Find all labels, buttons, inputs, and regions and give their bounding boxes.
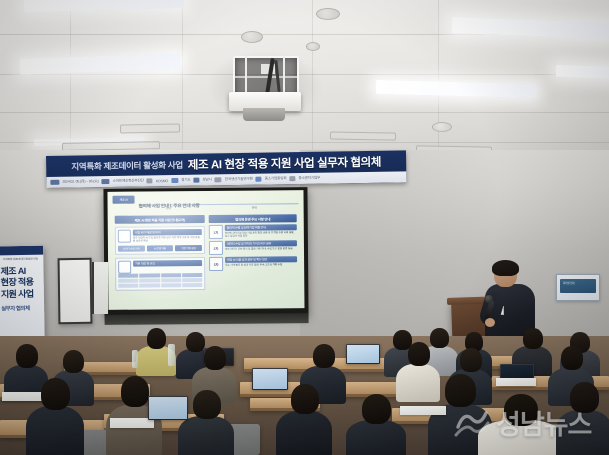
sn-logo-icon: [452, 403, 492, 441]
slide-body-text: 협의체 참여기업 대상 사업 추진 일정 공유 및 단계별 수행 과제 설명, …: [225, 231, 297, 239]
sponsor-logo: 한국생산기술연구원: [225, 177, 253, 182]
ceiling-light: [556, 65, 609, 79]
watermark: 성남뉴스: [452, 396, 604, 448]
projected-slide: 제조 AI 협의체 사업 안내 Ⅰ. 주요 안내 사항 안내 안내 제조 AI …: [107, 190, 304, 310]
water-bottle: [168, 344, 175, 366]
rollup-line: 제조 AI: [0, 266, 40, 278]
rollup-line: 지원 사업: [1, 288, 41, 300]
ceiling: [0, 0, 609, 152]
slide-chip-row: 데이터 수집·구축 AI 모델 개발 현장 적용·실증: [118, 245, 202, 252]
slide-tab-label: 제조 AI: [113, 196, 135, 204]
slide-column-header: 제조 AI 현장 적용 지원 사업 안내(요약): [115, 215, 205, 224]
ceiling-speaker: [432, 122, 452, 132]
ceiling-light: [20, 53, 180, 75]
slide-bar: 협의체 운영 및 참여기업 역할 안내: [225, 224, 297, 230]
slide-column-left: 제조 AI 현장 적용 지원 사업 안내(요약) 사업 추진 배경 및 목적 제…: [115, 215, 206, 304]
slide-body-text: 우수 사례 발표 및 성과 지표 점검, 후속 고도화 계획 수립: [225, 263, 297, 268]
projection-screen: 제조 AI 협의체 사업 안내 Ⅰ. 주요 안내 사항 안내 안내 제조 AI …: [103, 187, 308, 317]
ceiling-light: [24, 0, 184, 12]
slide-caption-left: 안내: [166, 206, 171, 210]
slide-chip: 데이터 수집·구축: [118, 246, 145, 252]
screen-bottom-bar: [105, 313, 309, 325]
document: [496, 378, 536, 386]
ceiling-vent: [330, 131, 396, 140]
slide-card: 지원 대상 및 규모: [115, 257, 205, 291]
sponsor-logo: 성남시: [202, 177, 211, 182]
slide-tab: 제조 AI: [113, 196, 135, 204]
slide-step-badge: 3차: [209, 257, 223, 271]
slide-step-badge: 1차: [209, 225, 223, 239]
slide-bar: 현장 AI 적용 성과 공유 및 확산 방안: [225, 256, 297, 262]
sponsor-logo: KOSMO: [156, 179, 168, 183]
microphone-head: [485, 295, 493, 303]
slide-caption-right: 안내: [252, 206, 257, 210]
laptop: [148, 396, 188, 420]
slide-item: 2차 데이터 수집 및 전처리 가이드라인 공유 제조 데이터 표준 양식 및 …: [209, 240, 297, 255]
slide-item: 1차 협의체 운영 및 참여기업 역할 안내 협의체 참여기업 대상 사업 추진…: [209, 224, 297, 239]
sponsor-logo: 스마트제조혁신추진단: [113, 178, 144, 183]
slide-column-header-text: 협의체 운영 주요 사항 안내: [235, 216, 270, 221]
laptop: [346, 344, 380, 364]
banner-subline: 2024.02. 05.(月) ~ 06.(火): [62, 179, 98, 185]
banner-prefix: 지역특화 제조데이터 활성화 사업: [71, 159, 183, 173]
rollup-subtitle: 지역특화 제조데이터 활성화 사업: [0, 258, 40, 263]
ceiling-light: [376, 80, 536, 98]
slide-title: 협의체 사업 안내 Ⅰ. 주요 안내 사항: [138, 193, 298, 205]
audience-member: [276, 386, 332, 455]
slide-bar: 데이터 수집 및 전처리 가이드라인 공유: [225, 240, 297, 246]
sponsor-logo: 중소기업중앙회: [265, 176, 287, 181]
sponsor-logo: 경기도: [181, 178, 190, 183]
slide-icon: [118, 230, 131, 243]
ceiling-speaker: [316, 8, 340, 20]
slide-card: 사업 추진 배경 및 목적 제조 현장의 AI 도입 확산을 위한 실무 지원 …: [115, 226, 205, 255]
slide-column-header-text: 제조 AI 현장 적용 지원 사업 안내(요약): [135, 217, 185, 222]
slide-chip: 현장 적용·실증: [175, 245, 202, 251]
wall-sign-label: 회의실 안내: [560, 279, 596, 285]
whiteboard-secondary: [92, 262, 108, 314]
slide-step-badge: 2차: [209, 241, 223, 255]
slide-chip: AI 모델 개발: [147, 246, 174, 252]
seminar-room-photo: 지역특화 제조데이터 활성화 사업 제조 AI 현장 적용 지원 사업 실무자 …: [0, 0, 609, 455]
slide-table: [118, 273, 202, 288]
water-bottle: [132, 350, 138, 368]
presenter: [484, 262, 538, 338]
slide-bar: 사업 추진 배경 및 목적: [133, 229, 202, 235]
slide-column-header: 협의체 운영 주요 사항 안내: [209, 214, 297, 223]
projector-lens: [243, 108, 285, 121]
event-banner: 지역특화 제조데이터 활성화 사업 제조 AI 현장 적용 지원 사업 실무자 …: [46, 150, 406, 188]
slide-item: 3차 현장 AI 적용 성과 공유 및 확산 방안 우수 사례 발표 및 성과 …: [209, 256, 297, 271]
whiteboard: [58, 258, 93, 324]
slide-body-text: 제조 데이터 표준 양식 및 품질 기준 안내, 수집 도구 활용 방법 실습: [225, 247, 297, 252]
watermark-text: 성남뉴스: [496, 403, 591, 442]
slide-bar-text: 지원 대상 및 규모: [135, 261, 155, 265]
document: [400, 406, 446, 415]
audience-member: [26, 380, 84, 455]
ceiling-vent: [120, 123, 180, 133]
slide-column-right: 협의체 운영 주요 사항 안내 1차 협의체 운영 및 참여기업 역할 안내 협…: [209, 214, 298, 303]
rollup-banner: 지역특화 제조데이터 활성화 사업 제조 AI 현장 적용 지원 사업 실무자 …: [0, 246, 45, 351]
slide-icon: [118, 261, 131, 274]
ceiling-light: [452, 17, 609, 39]
ceiling-speaker: [241, 31, 263, 43]
rollup-footer: 실무자 협의체: [1, 304, 41, 313]
slide-bar: 지원 대상 및 규모: [133, 260, 202, 266]
banner-headline: 제조 AI 현장 적용 지원 사업 실무자 협의체: [188, 154, 381, 173]
wall-sign: 회의실 안내: [556, 274, 600, 301]
audience-member: [346, 396, 406, 455]
sponsor-logo: 중소벤처기업부: [298, 176, 320, 181]
slide-bar-text: 사업 추진 배경 및 목적: [135, 230, 161, 234]
rollup-line: 현장 적용: [1, 277, 41, 289]
